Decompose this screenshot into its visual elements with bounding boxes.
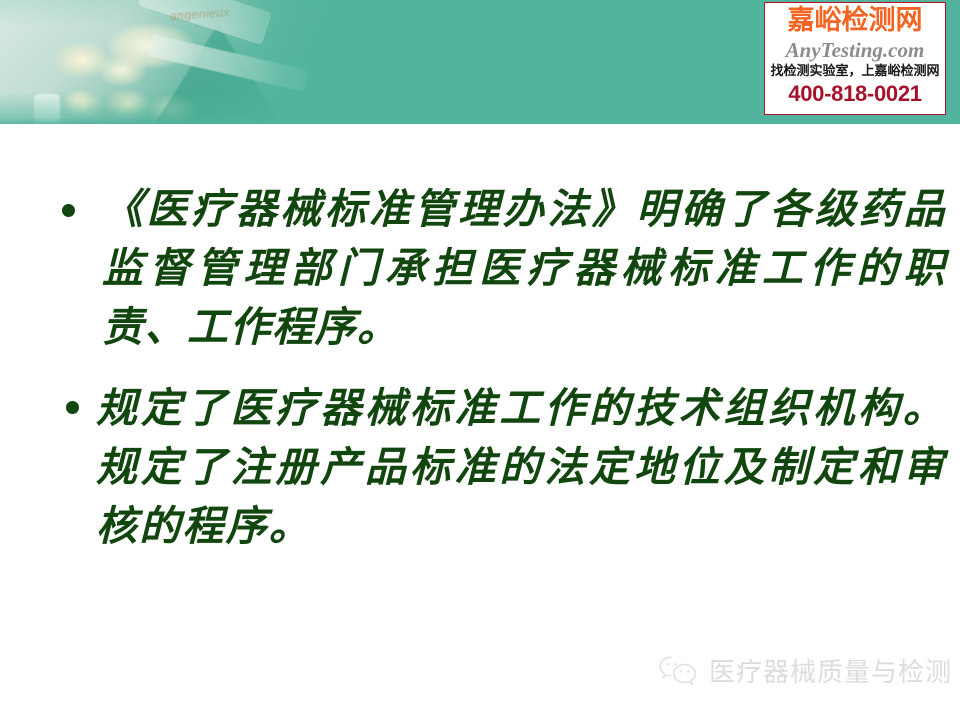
header-band: angenieux 嘉峪检测网 AnyTesting.com 找检测实验室，上嘉… xyxy=(0,0,960,124)
photo-fade-vertical xyxy=(0,0,330,124)
bullet-text: 《医疗器械标准管理办法》明确了各级药品监督管理部门承担医疗器械标准工作的职责、工… xyxy=(102,180,946,357)
wechat-watermark: 医疗器械质量与检测 xyxy=(657,652,952,689)
list-item: 《医疗器械标准管理办法》明确了各级药品监督管理部门承担医疗器械标准工作的职责、工… xyxy=(14,180,946,357)
bullet-list: 《医疗器械标准管理办法》明确了各级药品监督管理部门承担医疗器械标准工作的职责、工… xyxy=(14,180,946,556)
slide-content: 《医疗器械标准管理办法》明确了各级药品监督管理部门承担医疗器械标准工作的职责、工… xyxy=(0,124,960,720)
logo-chinese-name: 嘉峪检测网 xyxy=(788,5,923,37)
anytesting-logo-box[interactable]: 嘉峪检测网 AnyTesting.com 找检测实验室，上嘉峪检测网 400-8… xyxy=(764,2,946,115)
list-item: 规定了医疗器械标准工作的技术组织机构。规定了注册产品标准的法定地位及制定和审核的… xyxy=(14,379,946,556)
wechat-account-name: 医疗器械质量与检测 xyxy=(709,652,952,689)
logo-tagline: 找检测实验室，上嘉峪检测网 xyxy=(770,64,939,80)
logo-english-name: AnyTesting.com xyxy=(786,38,925,62)
bullet-text: 规定了医疗器械标准工作的技术组织机构。规定了注册产品标准的法定地位及制定和审核的… xyxy=(96,379,946,556)
slide-canvas: angenieux 嘉峪检测网 AnyTesting.com 找检测实验室，上嘉… xyxy=(0,0,960,720)
surgical-lamp-photo: angenieux xyxy=(0,0,330,124)
wechat-icon xyxy=(657,654,699,688)
bullet-dot-icon xyxy=(62,204,75,217)
bullet-dot-icon xyxy=(66,401,79,414)
logo-phone-number: 400-818-0021 xyxy=(788,81,921,106)
